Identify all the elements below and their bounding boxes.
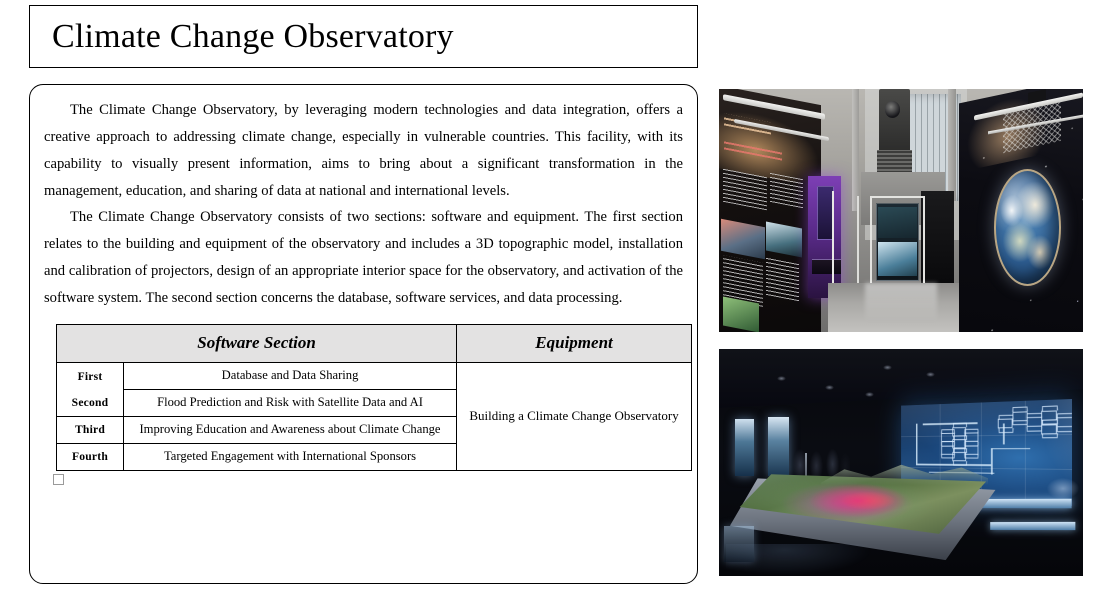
content-box: The Climate Change Observatory, by lever… xyxy=(29,84,698,584)
table-header-row: Software Section Equipment xyxy=(57,324,692,362)
glass-frame-top xyxy=(870,196,925,198)
title-box: Climate Change Observatory xyxy=(29,5,698,68)
ceiling-spotlight xyxy=(865,392,874,397)
equipment-cell: Building a Climate Change Observatory xyxy=(457,362,692,470)
center-display-screen-bottom xyxy=(878,242,917,276)
control-room-photo xyxy=(719,349,1083,576)
row-ordinal-second: Second xyxy=(57,389,124,416)
exhibition-hall-scene xyxy=(719,89,1083,332)
ceiling-duct xyxy=(879,89,910,152)
row-ordinal-third: Third xyxy=(57,416,124,443)
floor-reflection xyxy=(726,544,872,576)
row-description-second: Flood Prediction and Risk with Satellite… xyxy=(124,389,457,416)
projector-lens-icon xyxy=(885,101,900,118)
software-equipment-table-wrap: Software Section Equipment First Databas… xyxy=(44,324,683,471)
hexagon-node-icon xyxy=(1057,417,1072,427)
video-wall-lower-strip xyxy=(991,521,1077,529)
paragraph-2: The Climate Change Observatory consists … xyxy=(44,204,683,311)
header-software-section: Software Section xyxy=(57,324,457,362)
hexagon-node-icon xyxy=(953,452,967,461)
hexagon-node-icon xyxy=(1042,424,1058,434)
hexagon-node-icon xyxy=(1027,417,1042,427)
resize-handle[interactable] xyxy=(53,474,64,485)
white-frame-post xyxy=(857,196,859,293)
glass-frame-right xyxy=(923,196,925,288)
paragraph-1: The Climate Change Observatory, by lever… xyxy=(44,97,683,204)
left-wall-photo-panel xyxy=(723,297,759,332)
hexagon-node-icon xyxy=(998,419,1013,429)
ceiling-spotlight xyxy=(926,372,935,377)
glass-frame-left xyxy=(870,196,872,288)
table-row: First Database and Data Sharing Building… xyxy=(57,362,692,389)
row-ordinal-fourth: Fourth xyxy=(57,443,124,470)
dark-info-panel xyxy=(921,191,954,283)
wall-display-left-2 xyxy=(768,417,788,476)
row-ordinal-first: First xyxy=(57,362,124,389)
hexagon-node-icon xyxy=(1012,411,1027,421)
floor-reflection xyxy=(865,283,938,322)
control-room-scene xyxy=(719,349,1083,576)
display-pedestal xyxy=(812,259,841,274)
wall-display-left-1 xyxy=(735,419,754,476)
header-equipment: Equipment xyxy=(457,324,692,362)
ceiling-spotlight xyxy=(883,365,892,370)
row-description-first: Database and Data Sharing xyxy=(124,362,457,389)
row-description-fourth: Targeted Engagement with International S… xyxy=(124,443,457,470)
earth-globe-icon xyxy=(994,169,1061,286)
circuit-trace xyxy=(991,448,1030,449)
row-description-third: Improving Education and Awareness about … xyxy=(124,416,457,443)
right-side-device xyxy=(1047,478,1080,498)
hall-column-right xyxy=(948,89,955,201)
hall-column-left xyxy=(852,89,859,211)
page-title: Climate Change Observatory xyxy=(30,20,454,54)
page-root: Climate Change Observatory The Climate C… xyxy=(0,0,1104,596)
center-display-screen-top xyxy=(878,207,917,239)
exhibition-hall-photo xyxy=(719,89,1083,332)
left-wall-text-block xyxy=(766,256,799,301)
software-equipment-table: Software Section Equipment First Databas… xyxy=(56,324,692,471)
